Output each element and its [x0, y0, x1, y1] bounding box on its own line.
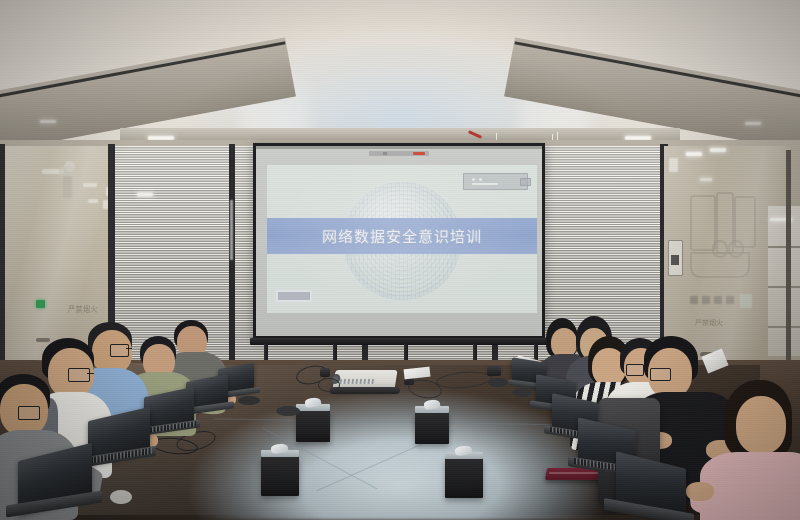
presentation-slide: 网络数据安全意识培训	[267, 165, 537, 313]
glass-door-handle-left[interactable]	[36, 338, 50, 342]
blinds-light-reflection	[137, 193, 153, 196]
projection-screen: 网络数据安全意识培训	[253, 143, 545, 339]
eyeglasses	[18, 406, 40, 420]
slide-logo-box	[463, 173, 528, 190]
cable-connector	[320, 368, 330, 377]
slide-title: 网络数据安全意识培训	[322, 226, 482, 247]
mullion-highlight	[230, 200, 233, 260]
projector-cable	[318, 378, 340, 392]
wall-column-right	[786, 150, 791, 365]
projector-vent	[339, 379, 374, 384]
exit-sign	[36, 300, 45, 308]
eyeglasses	[626, 364, 644, 376]
eyeglasses	[650, 368, 671, 381]
slide-title-band: 网络数据安全意识培训	[267, 218, 537, 254]
projector-base-shadow	[329, 387, 400, 394]
screen-bottom-bar	[250, 338, 548, 345]
tissue-box	[296, 410, 330, 442]
slide-footer-chip	[276, 290, 312, 302]
cable-connector	[487, 366, 501, 376]
computer-mouse[interactable]	[110, 490, 132, 504]
tissue-box	[261, 456, 299, 496]
glass-door-decal: 严禁烟火	[68, 305, 98, 316]
glass-door-decal-right: 严禁烟火	[695, 318, 723, 328]
tissue-box	[445, 458, 483, 498]
ceiling-light	[745, 122, 761, 125]
screen-top-edge	[256, 146, 542, 149]
desk-microphone	[238, 396, 260, 405]
conference-room-photo: 严禁烟火 严禁烟火	[0, 0, 800, 520]
ceiling-light	[40, 120, 56, 123]
tissue-box	[415, 412, 449, 444]
partition-frame-far-left	[0, 144, 5, 384]
screen-surface: 网络数据安全意识培训	[256, 146, 542, 336]
desk-microphone	[488, 378, 508, 387]
eyeglasses	[110, 344, 129, 357]
projected-toolbar	[369, 151, 429, 156]
desk-microphone	[276, 406, 300, 416]
desk-microphone	[512, 388, 532, 397]
eyeglasses	[68, 368, 90, 382]
